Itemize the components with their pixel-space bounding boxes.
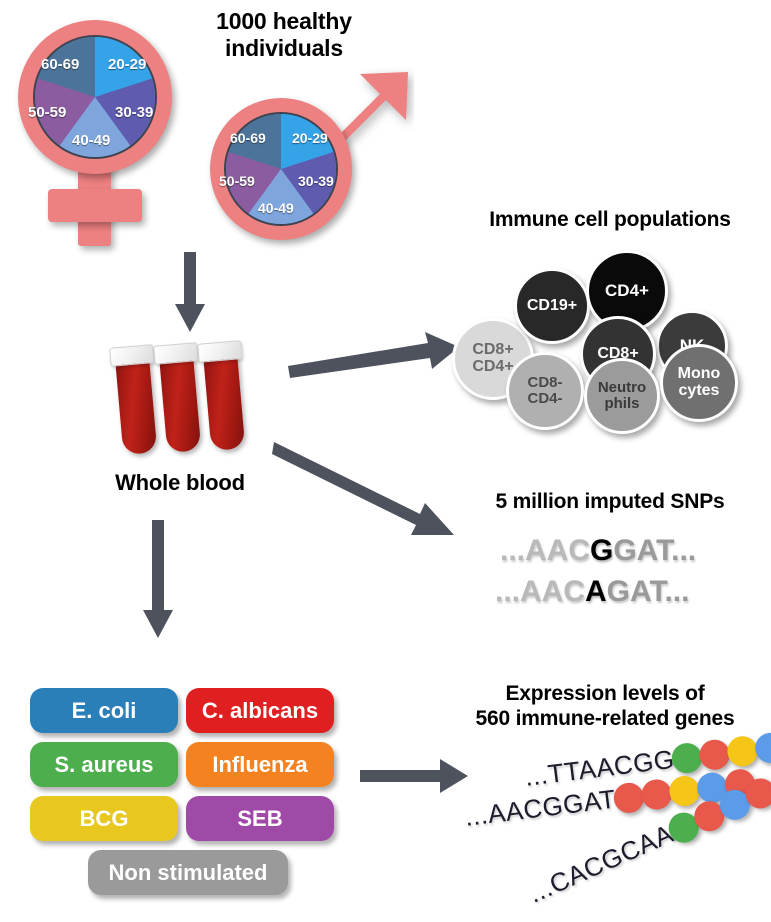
gene-bead: [726, 734, 759, 767]
arrow-right-icon: [286, 330, 461, 382]
immune-cell-cd8n-cd4n: CD8- CD4-: [506, 352, 584, 430]
blood-tube: [158, 343, 201, 454]
cohort-heading-line1: 1000 healthy: [178, 8, 390, 35]
gene-sequence-text: ...CACGCAA: [524, 818, 678, 909]
cell-label-line1: CD8-: [527, 375, 562, 391]
gene-bead: [668, 774, 701, 807]
cell-label-line2: CD4-: [527, 391, 562, 407]
stimulus-label: Non stimulated: [109, 860, 268, 886]
expression-heading: Expression levels of 560 immune-related …: [440, 682, 770, 732]
snp-suffix: GAT...: [613, 534, 696, 567]
arrow-right-icon: [358, 755, 470, 797]
female-gender-symbol: 20-29 30-39 40-49 50-59 60-69: [10, 16, 185, 246]
arrow-blood-to-immune-cells: [286, 330, 461, 382]
snp-sequence-row-2: ...AACAGAT...: [495, 575, 689, 609]
cell-label-line2: CD4+: [472, 359, 513, 376]
female-pie-label-40-49: 40-49: [72, 132, 110, 149]
arrow-down-right-icon: [272, 440, 457, 545]
stimulus-e-coli[interactable]: E. coli: [30, 688, 178, 733]
blood-tube-body: [159, 356, 201, 453]
expression-heading-line1: Expression levels of: [440, 682, 770, 707]
snps-heading: 5 million imputed SNPs: [450, 490, 770, 515]
blood-tube-cap: [109, 344, 154, 367]
gene-bead: [698, 737, 731, 770]
immune-cell-cd19p: CD19+: [514, 268, 590, 344]
stimulus-seb[interactable]: SEB: [186, 796, 334, 841]
cell-label-line1: Neutro: [598, 380, 646, 396]
expression-heading-line2: 560 immune-related genes: [440, 707, 770, 732]
stimulus-label: E. coli: [72, 698, 137, 724]
male-pie-label-60-69: 60-69: [230, 130, 266, 146]
stimulus-label: SEB: [237, 806, 282, 832]
arrow-cohort-to-blood: [172, 252, 208, 334]
immune-cells-heading: Immune cell populations: [450, 208, 770, 233]
male-pie-label-40-49: 40-49: [258, 200, 294, 216]
stimulus-c-albicans[interactable]: C. albicans: [186, 688, 334, 733]
blood-tube-cap: [197, 340, 242, 363]
cell-label: CD19+: [527, 298, 577, 315]
cell-label-line2: phils: [598, 396, 646, 412]
female-pie-label-30-39: 30-39: [115, 104, 153, 121]
female-pie-label-50-59: 50-59: [28, 104, 66, 121]
arrow-stimuli-to-expression: [358, 755, 470, 797]
snp-suffix: GAT...: [607, 575, 690, 608]
whole-blood-label: Whole blood: [60, 470, 300, 496]
female-symbol-crossbar: [48, 189, 142, 222]
stimulus-label: C. albicans: [202, 698, 318, 724]
stimulus-bcg[interactable]: BCG: [30, 796, 178, 841]
cohort-heading-line2: individuals: [178, 35, 390, 62]
snp-prefix: ...AAC: [495, 575, 585, 608]
arrow-blood-to-stimuli: [140, 520, 176, 640]
arrow-down-icon: [172, 252, 208, 334]
blood-tube: [202, 341, 245, 452]
gene-bead: [754, 731, 771, 764]
snp-variant-allele: G: [590, 534, 613, 567]
cell-label-line1: Mono: [678, 366, 721, 383]
stimulus-s-aureus[interactable]: S. aureus: [30, 742, 178, 787]
stimulus-label: BCG: [80, 806, 129, 832]
arrow-blood-to-snps: [272, 440, 457, 545]
gene-bead: [640, 777, 673, 810]
male-pie-label-30-39: 30-39: [298, 173, 334, 189]
blood-tube-body: [203, 354, 245, 451]
stimulus-non-stimulated[interactable]: Non stimulated: [88, 850, 288, 895]
snp-prefix: ...AAC: [500, 534, 590, 567]
male-gender-symbol: 20-29 30-39 40-49 50-59 60-69: [200, 60, 415, 245]
immune-cell-neutrophils: Neutro phils: [584, 358, 660, 434]
cell-label-line2: cytes: [678, 383, 721, 400]
stimulus-influenza[interactable]: Influenza: [186, 742, 334, 787]
arrow-down-icon: [140, 520, 176, 640]
stimulus-label: S. aureus: [54, 752, 153, 778]
snp-sequence-row-1: ...AACGGAT...: [500, 534, 696, 568]
immune-cell-monocytes: Mono cytes: [660, 344, 738, 422]
cell-label-line1: CD8+: [472, 342, 513, 359]
male-pie-label-50-59: 50-59: [219, 173, 255, 189]
cell-label: CD4+: [605, 282, 649, 300]
snp-variant-allele: A: [585, 575, 607, 608]
cohort-heading: 1000 healthy individuals: [178, 8, 390, 62]
blood-tube-cap: [153, 342, 198, 365]
female-pie-label-60-69: 60-69: [41, 56, 79, 73]
immune-cells-cluster: CD8+ CD4+ CD19+ CD4+ NK CD8+ CD8- CD4- N…: [450, 240, 770, 430]
stimulus-label: Influenza: [212, 752, 307, 778]
blood-tube-body: [115, 358, 157, 455]
blood-tube: [114, 345, 157, 456]
male-pie-label-20-29: 20-29: [292, 130, 328, 146]
whole-blood-tubes: [112, 340, 242, 460]
female-pie-label-20-29: 20-29: [108, 56, 146, 73]
